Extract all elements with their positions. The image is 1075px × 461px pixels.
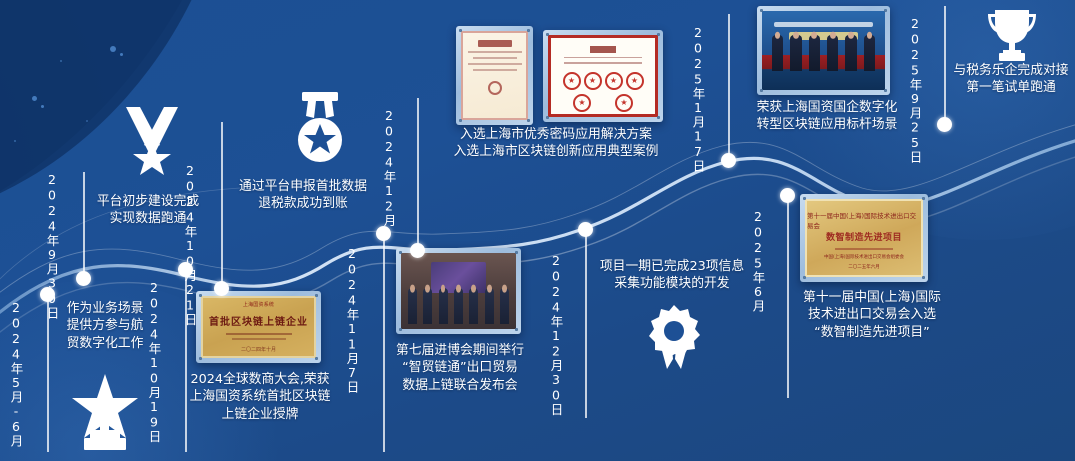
seal-icon: ★ — [563, 72, 581, 90]
certificate-line — [473, 57, 517, 59]
plaque-main-text: 数智制造先进项目 — [826, 230, 902, 243]
conference-photo-m5 — [396, 248, 521, 334]
certificate-title-mark — [478, 40, 512, 47]
timeline-stem-m8 — [728, 14, 730, 154]
plaque-photo-m3: 上海国资系统 首批区块链上链企业 二〇二四年十月 — [196, 291, 321, 363]
seal-icon: ★ — [573, 94, 591, 112]
screw-icon — [515, 328, 518, 331]
plaque-divider — [226, 333, 292, 335]
person — [809, 35, 820, 71]
milestone-date-m8: 2025年1月17日 — [691, 25, 704, 173]
timeline-node-m7[interactable] — [578, 222, 593, 237]
person — [485, 288, 494, 324]
certificate-seal — [488, 81, 502, 95]
screw-icon — [760, 89, 763, 92]
timeline-node-m2[interactable] — [76, 271, 91, 286]
plaque-inner: 第十一届中国(上海)国际技术进出口交易会 数智制造先进项目 中国(上海)国际技术… — [805, 199, 923, 277]
screw-icon — [399, 328, 402, 331]
person — [845, 35, 856, 71]
milestone-date-m3: 2024年10月19日 — [147, 280, 160, 443]
milestone-date-m4: 2024年10月21日 — [183, 163, 196, 326]
timeline-stem-m10 — [944, 6, 946, 118]
timeline-stem-m7 — [585, 236, 587, 418]
screw-icon — [884, 89, 887, 92]
certificate-line — [468, 51, 522, 53]
screw-icon — [657, 33, 660, 36]
screw-icon — [546, 33, 549, 36]
screw-icon — [515, 251, 518, 254]
certificate-horizontal-m6: ★ ★ ★ ★ ★ ★ — [543, 30, 663, 122]
milestone-caption-m7: 项目一期已完成23项信息 采集功能模块的开发 — [592, 258, 752, 293]
person — [408, 288, 417, 324]
person — [772, 35, 783, 71]
timeline-stem-m6 — [417, 98, 419, 244]
certificate-line — [564, 62, 642, 64]
certificate-inner: ★ ★ ★ ★ ★ ★ — [548, 35, 658, 117]
timeline-node-m6[interactable] — [410, 243, 425, 258]
screw-icon — [315, 294, 318, 297]
plaque-divider — [835, 248, 893, 250]
timeline-node-m9[interactable] — [780, 188, 795, 203]
milestone-date-m2: 2024年9月30日 — [45, 172, 58, 320]
banner-text-line — [774, 22, 872, 27]
seal-icon: ★ — [584, 72, 602, 90]
seal-icon: ★ — [605, 72, 623, 90]
timeline-stem-m4 — [221, 122, 223, 282]
person — [454, 288, 463, 324]
screw-icon — [884, 9, 887, 12]
photo-people — [408, 288, 509, 324]
medal-star-icon — [292, 90, 348, 172]
person — [423, 288, 432, 324]
plaque-head-text: 上海国资系统 — [243, 301, 274, 308]
certificate-inner — [461, 31, 528, 120]
screw-icon — [922, 276, 925, 279]
certificate-title-mark — [590, 46, 616, 53]
trophy-icon — [985, 6, 1039, 66]
milestone-date-m5: 2024年11月7日 — [345, 246, 358, 394]
screw-icon — [546, 116, 549, 119]
milestone-date-m6: 2024年12月 — [382, 108, 395, 227]
screw-icon — [527, 119, 530, 122]
person — [790, 35, 801, 71]
photo-inner — [401, 253, 516, 329]
screw-icon — [760, 9, 763, 12]
screw-icon — [459, 29, 462, 32]
plaque-main-text: 首批区块链上链企业 — [209, 313, 308, 328]
award-ceremony-photo-m8 — [757, 6, 890, 95]
gold-plaque-m9: 第十一届中国(上海)国际技术进出口交易会 数智制造先进项目 中国(上海)国际技术… — [800, 194, 928, 282]
timeline-node-m4[interactable] — [214, 281, 229, 296]
person — [827, 35, 838, 71]
screw-icon — [199, 294, 202, 297]
milestone-caption-m10: 与税务乐企完成对接 第一笔试单跑通 — [950, 62, 1072, 97]
milestone-caption-m6: 入选上海市优秀密码应用解决方案 入选上海市区块链创新应用典型案例 — [434, 126, 678, 161]
certificate-line — [564, 57, 642, 59]
star-trophy-icon — [68, 368, 142, 456]
screw-icon — [657, 116, 660, 119]
milestone-caption-m3: 2024全球数商大会,荣获 上海国资系统首批区块链 上链企业授牌 — [176, 371, 344, 423]
timeline-node-m8[interactable] — [721, 153, 736, 168]
screw-icon — [399, 251, 402, 254]
milestone-date-m1: 2024年5月-6月 — [9, 300, 22, 448]
milestone-caption-m1: 作为业务场景 提供方参与航 贸数字化工作 — [57, 300, 153, 352]
plaque-inner: 上海国资系统 首批区块链上链企业 二〇二四年十月 — [201, 296, 316, 358]
timeline-stem-m2 — [83, 172, 85, 272]
plaque-head-text: 第十一届中国(上海)国际技术进出口交易会 — [807, 210, 921, 230]
timeline-node-m5[interactable] — [376, 226, 391, 241]
plaque-date-text: 二〇二五年六月 — [848, 264, 880, 270]
milestone-date-m9: 2025年6月 — [751, 209, 764, 313]
ribbon-award-icon — [645, 303, 703, 377]
certificate-line — [468, 63, 522, 65]
milestone-caption-m5: 第七届进博会期间举行 “智贸链通”出口贸易 数据上链联合发布会 — [376, 342, 544, 394]
screw-icon — [922, 197, 925, 200]
person — [469, 288, 478, 324]
screw-icon — [803, 276, 806, 279]
milestone-caption-m9: 第十一届中国(上海)国际 技术进出口交易会入选 “数智制造先进项目” — [782, 289, 962, 341]
plaque-divider-2 — [232, 338, 286, 340]
certificate-vertical-m6 — [456, 26, 533, 125]
seal-icon: ★ — [615, 94, 633, 112]
person — [864, 35, 875, 71]
milestone-caption-m8: 荣获上海国资国企数字化 转型区块链应用标杆场景 — [737, 99, 917, 134]
photo-people — [772, 35, 875, 71]
plaque-date-text: 二〇二四年十月 — [241, 346, 276, 353]
timeline-infographic: 2024年5月-6月 作为业务场景 提供方参与航 贸数字化工作 2024年9月3… — [0, 0, 1075, 461]
screw-icon — [315, 357, 318, 360]
milestone-date-m7: 2024年12月30日 — [549, 253, 562, 416]
photo-inner — [762, 11, 885, 90]
certificate-line — [473, 69, 517, 71]
milestone-date-m10: 2025年9月25日 — [908, 16, 921, 164]
plaque-sub-text: 中国(上海)国际技术进出口交易会组委会 — [824, 254, 904, 260]
person — [439, 288, 448, 324]
screw-icon — [527, 29, 530, 32]
screw-icon — [803, 197, 806, 200]
seal-icon: ★ — [626, 72, 644, 90]
milestone-caption-m4: 通过平台申报首批数据 退税款成功到账 — [228, 178, 378, 213]
certificate-seals: ★ ★ ★ ★ ★ ★ — [561, 70, 645, 114]
timeline-node-m10[interactable] — [937, 117, 952, 132]
medal-icon — [120, 103, 184, 187]
screw-icon — [199, 357, 202, 360]
screw-icon — [459, 119, 462, 122]
person — [500, 288, 509, 324]
